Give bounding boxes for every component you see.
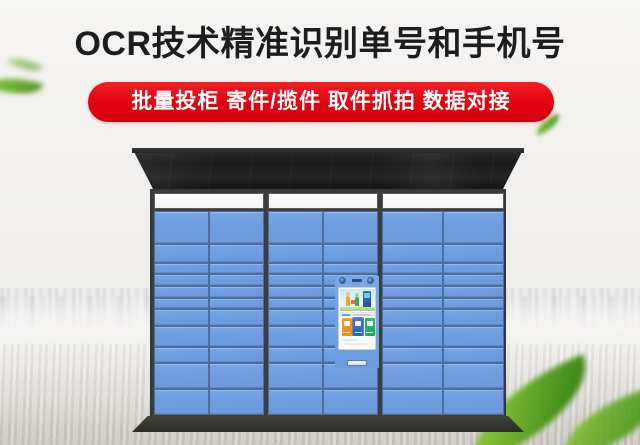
locker-door[interactable] xyxy=(382,347,443,363)
locker-door[interactable] xyxy=(268,326,323,347)
feature-banner: 批量投柜 寄件/揽件 取件抓拍 数据对接 xyxy=(88,82,554,122)
locker-door[interactable] xyxy=(209,244,264,263)
locker-door[interactable] xyxy=(209,274,264,286)
locker-door[interactable] xyxy=(382,263,443,275)
screen-button-pickup[interactable] xyxy=(353,318,363,336)
control-panel[interactable] xyxy=(335,276,379,368)
locker-door[interactable] xyxy=(382,326,443,347)
locker-door[interactable] xyxy=(323,389,378,415)
locker-door[interactable] xyxy=(268,274,323,286)
locker-door[interactable] xyxy=(443,389,504,415)
locker-door[interactable] xyxy=(443,309,504,325)
locker-door[interactable] xyxy=(443,286,504,298)
locker-door[interactable] xyxy=(209,389,264,415)
locker-door[interactable] xyxy=(268,286,323,298)
locker-door[interactable] xyxy=(154,326,209,347)
locker-door[interactable] xyxy=(443,363,504,389)
locker-door[interactable] xyxy=(443,274,504,286)
parcel-slot xyxy=(347,360,367,366)
pickup-icon xyxy=(355,321,361,326)
cabinet-body-frame xyxy=(150,189,506,419)
locker-door[interactable] xyxy=(268,263,323,275)
screen-button-deposit[interactable] xyxy=(365,318,375,336)
screen-hero-image xyxy=(340,289,376,311)
locker-door[interactable] xyxy=(382,286,443,298)
touchscreen[interactable] xyxy=(338,287,376,350)
locker-door[interactable] xyxy=(268,347,323,363)
locker-door[interactable] xyxy=(154,244,209,263)
locker-door[interactable] xyxy=(382,309,443,325)
camera-icon-right xyxy=(367,277,374,284)
screen-search-bar[interactable] xyxy=(340,312,376,316)
locker-door[interactable] xyxy=(154,211,209,244)
locker-door[interactable] xyxy=(209,363,264,389)
send-label-bar xyxy=(343,332,350,334)
locker-column-left xyxy=(154,211,264,415)
locker-door[interactable] xyxy=(443,326,504,347)
locker-door[interactable] xyxy=(209,326,264,347)
locker-door[interactable] xyxy=(268,244,323,263)
locker-door[interactable] xyxy=(209,309,264,325)
cabinet-canopy-lip xyxy=(132,148,524,153)
locker-door[interactable] xyxy=(382,363,443,389)
smart-locker-cabinet xyxy=(132,148,524,432)
locker-door[interactable] xyxy=(443,211,504,244)
cabinet-header-strip-center xyxy=(268,193,378,209)
locker-door[interactable] xyxy=(154,274,209,286)
locker-door[interactable] xyxy=(443,347,504,363)
scanner-bar-icon xyxy=(352,279,362,282)
locker-door[interactable] xyxy=(443,244,504,263)
locker-door[interactable] xyxy=(268,389,323,415)
cabinet-header-strip-right xyxy=(382,193,504,209)
locker-door[interactable] xyxy=(382,244,443,263)
hero-person-icon-1 xyxy=(346,296,350,306)
screen-action-buttons xyxy=(340,318,376,336)
locker-door[interactable] xyxy=(268,211,323,244)
screen-button-send[interactable] xyxy=(342,318,352,336)
locker-door[interactable] xyxy=(268,309,323,325)
pickup-label-bar xyxy=(355,332,362,334)
locker-door[interactable] xyxy=(209,298,264,310)
locker-door[interactable] xyxy=(154,347,209,363)
hero-person-icon-2 xyxy=(355,297,359,306)
locker-door[interactable] xyxy=(209,286,264,298)
feature-banner-text: 批量投柜 寄件/揽件 取件抓拍 数据对接 xyxy=(131,82,510,122)
locker-door[interactable] xyxy=(443,263,504,275)
locker-door[interactable] xyxy=(323,211,378,244)
locker-door[interactable] xyxy=(154,309,209,325)
deposit-label-bar xyxy=(366,332,373,334)
deposit-icon xyxy=(367,321,373,326)
locker-door[interactable] xyxy=(382,298,443,310)
locker-door[interactable] xyxy=(382,389,443,415)
camera-icon-left xyxy=(339,277,346,284)
locker-door[interactable] xyxy=(209,211,264,244)
locker-door[interactable] xyxy=(209,347,264,363)
cabinet-header-strip-left xyxy=(154,193,264,209)
hero-grass xyxy=(340,307,376,311)
locker-door[interactable] xyxy=(268,298,323,310)
hero-parcel-icon xyxy=(351,300,355,304)
locker-door[interactable] xyxy=(382,274,443,286)
locker-door[interactable] xyxy=(443,298,504,310)
locker-door[interactable] xyxy=(154,263,209,275)
page-title: OCR技术精准识别单号和手机号 xyxy=(0,24,640,64)
cabinet-canopy xyxy=(132,148,524,190)
locker-door[interactable] xyxy=(154,298,209,310)
locker-door[interactable] xyxy=(323,244,378,263)
locker-door[interactable] xyxy=(154,389,209,415)
locker-door[interactable] xyxy=(382,211,443,244)
screen-footer-text xyxy=(340,336,376,348)
cabinet-base xyxy=(132,416,524,432)
camera-row xyxy=(335,276,379,285)
poster-stage: OCR技术精准识别单号和手机号 批量投柜 寄件/揽件 取件抓拍 数据对接 xyxy=(0,0,640,445)
locker-door[interactable] xyxy=(268,363,323,389)
locker-door[interactable] xyxy=(209,263,264,275)
locker-door[interactable] xyxy=(154,286,209,298)
locker-door[interactable] xyxy=(323,263,378,275)
locker-door[interactable] xyxy=(154,363,209,389)
locker-column-right xyxy=(382,211,504,415)
send-icon xyxy=(344,321,350,326)
